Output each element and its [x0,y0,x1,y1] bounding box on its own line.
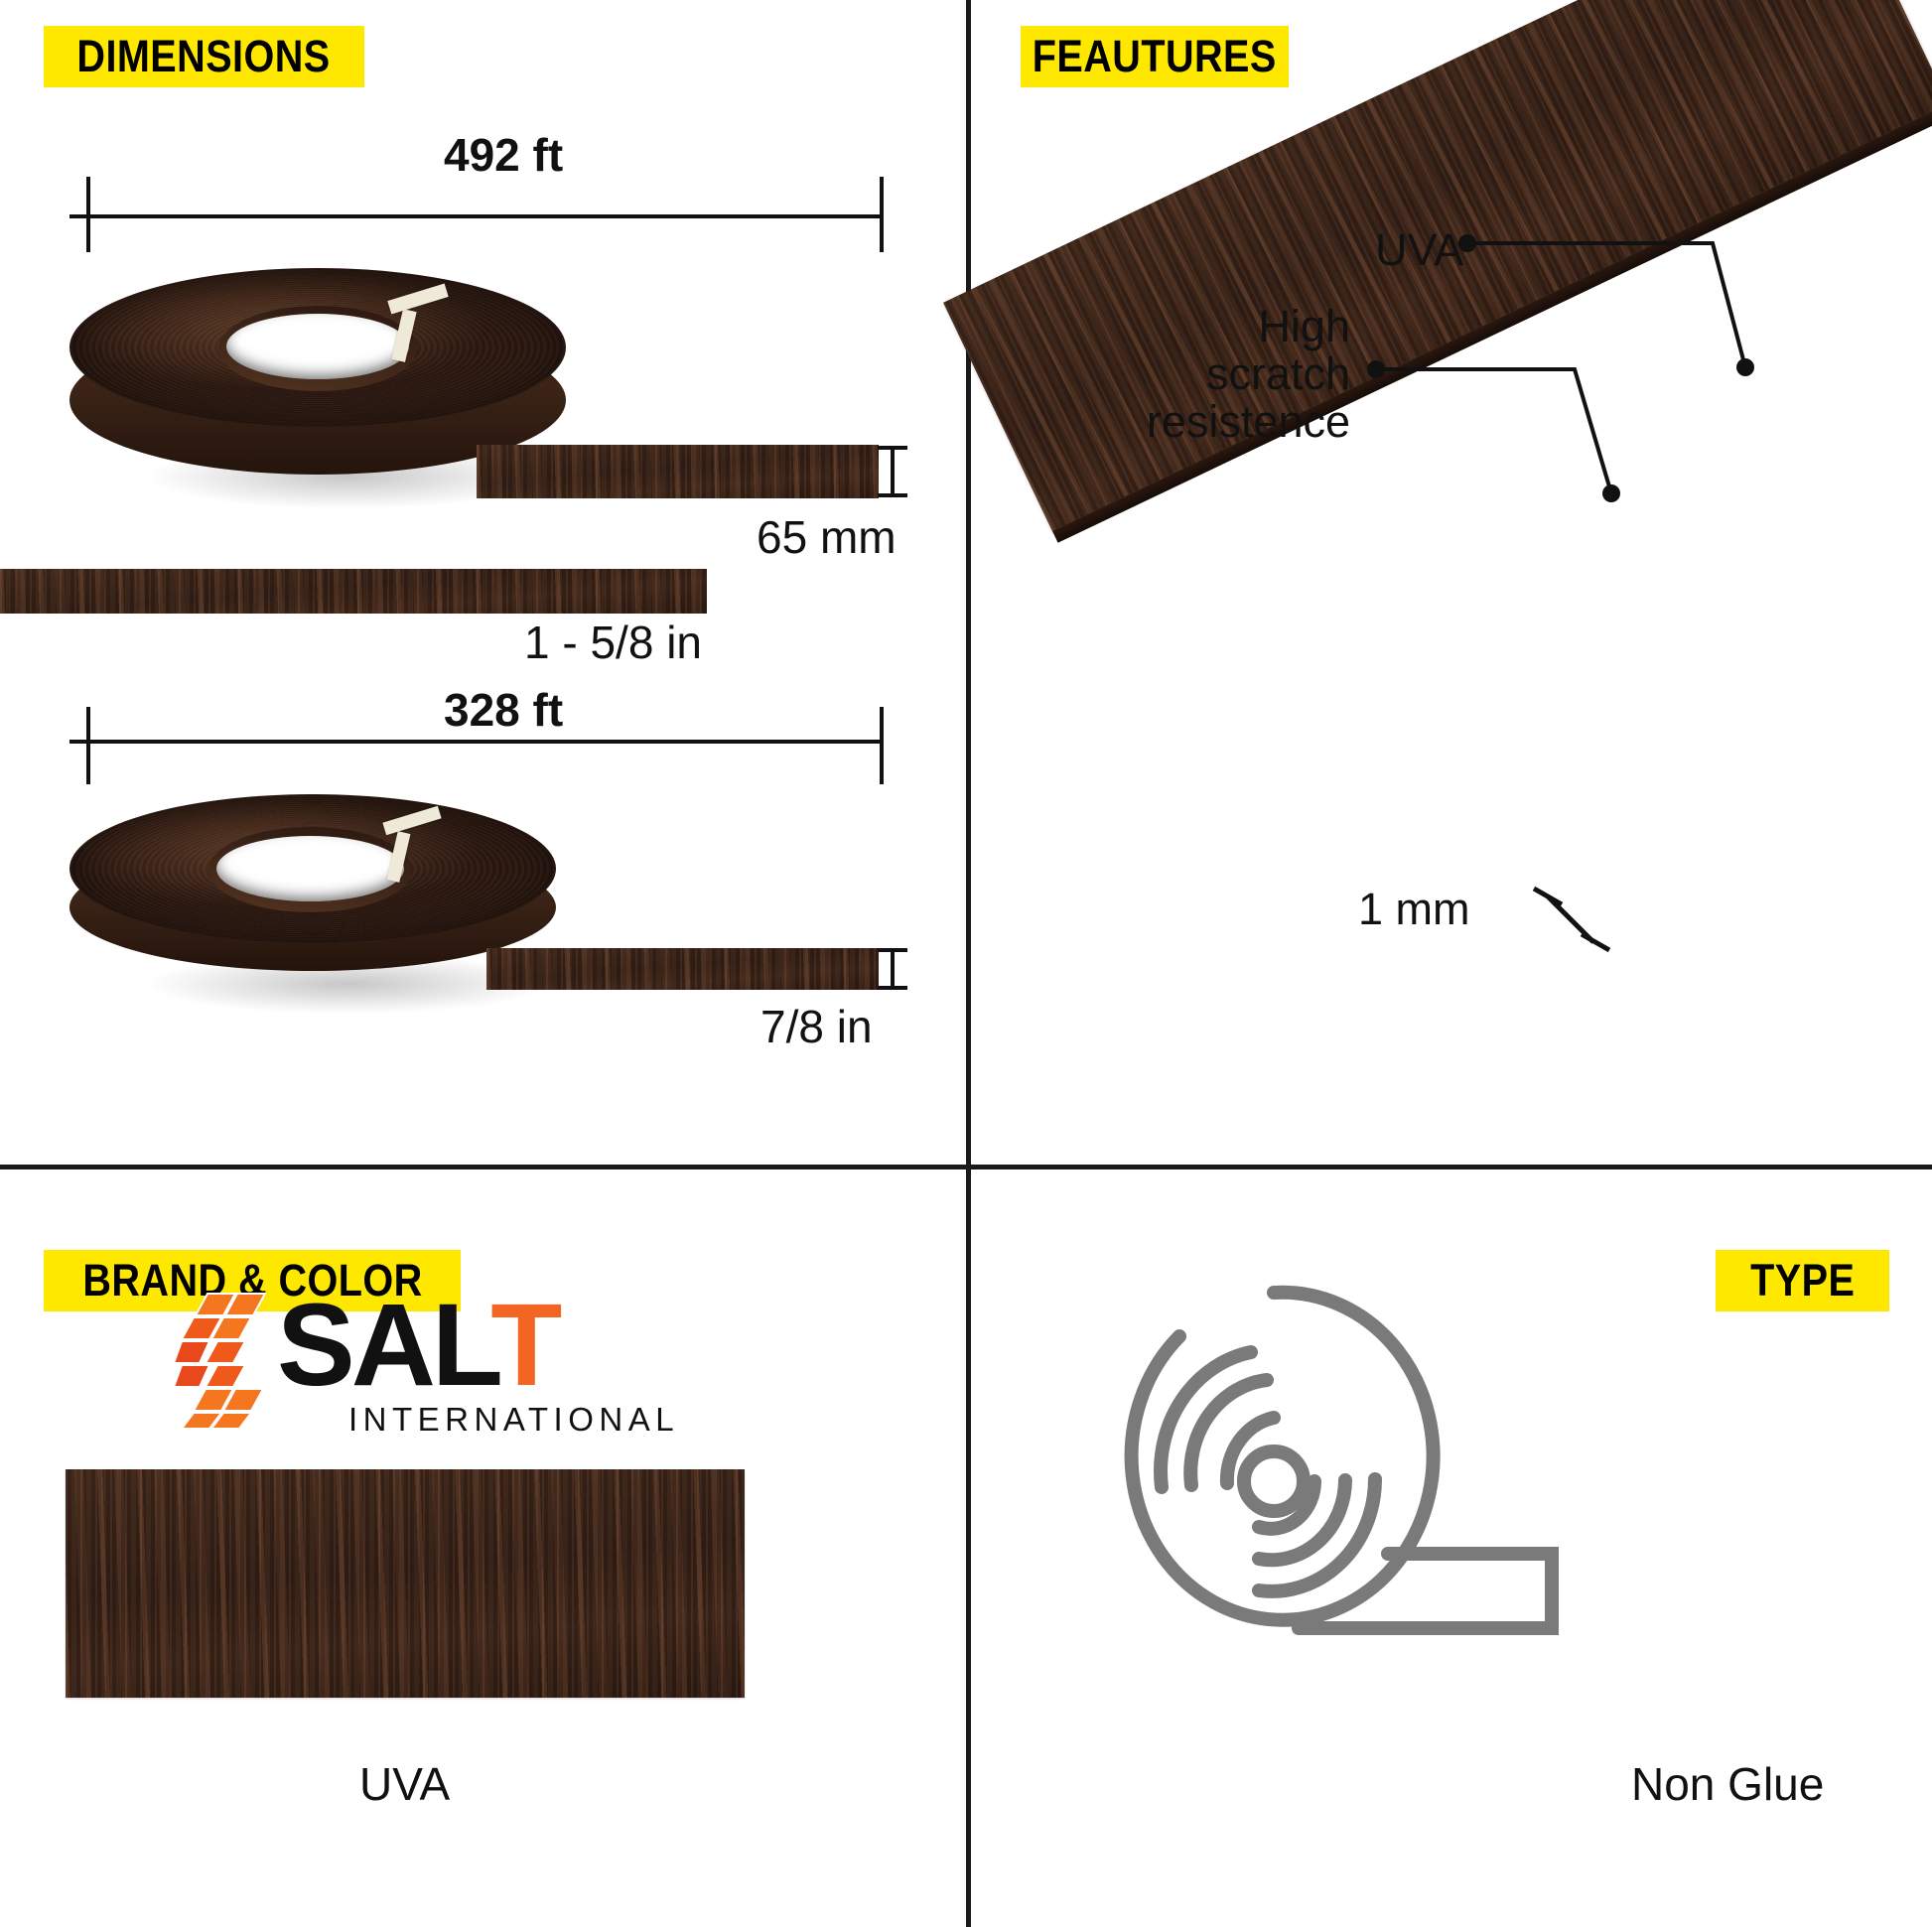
roll-1-width-strip [0,569,707,614]
roll-1-tail-strip [477,445,879,498]
brand-logo-word-black: SAL [277,1280,490,1411]
section-badge-dimensions-label: DIMENSIONS [77,31,331,82]
feature-callout-scratch-line2: scratch [1120,350,1350,399]
feature-callout-uva-label: UVA [1375,224,1463,276]
roll-1-length-rule [69,214,882,218]
horizontal-divider [0,1165,1932,1170]
type-value-label: Non Glue [1631,1757,1824,1811]
section-badge-features-label: FEAUTURES [1033,31,1277,82]
roll-2-length-label: 328 ft [444,683,563,737]
roll-2-tail-strip [486,948,879,990]
feature-callout-scratch-line3: resistence [1090,398,1350,447]
roll-1-thickness-tick-bottom [878,493,907,497]
section-badge-features: FEAUTURES [1021,26,1289,87]
roll-1-thickness-label: 65 mm [757,510,897,564]
roll-2-length-rule [69,740,882,744]
roll-2-thickness-tick-bottom [878,986,907,990]
brand-logo-wordmark: SALT [277,1278,558,1413]
roll-1-width-label: 1 - 5/8 in [524,616,702,669]
section-badge-type: TYPE [1716,1250,1889,1311]
feature-callout-scratch-leader [1368,359,1636,518]
feature-thickness-arrow [1534,869,1653,978]
section-badge-type-label: TYPE [1750,1255,1855,1307]
feature-callout-scratch-line1: High [1191,303,1350,351]
brand-logo: SALT INTERNATIONAL [174,1286,630,1435]
roll-1-core-hole [226,314,409,379]
brand-logo-subtitle: INTERNATIONAL [348,1401,679,1439]
roll-2-length-tick-left [86,707,90,784]
salt-s-mark-icon [174,1290,277,1429]
roll-coil-icon [1100,1271,1567,1658]
roll-2-thickness-label: 7/8 in [760,1000,873,1053]
roll-1-length-tick-right [880,177,884,252]
roll-1-length-label: 492 ft [444,128,563,182]
brand-logo-word-orange: T [490,1280,558,1411]
roll-1-thickness-arrow-line [891,449,895,496]
roll-1-thickness-tick-top [878,446,907,450]
color-name-label: UVA [359,1757,450,1811]
roll-2-thickness-arrow-line [891,951,895,989]
roll-2-core-hole [216,836,404,901]
color-swatch-uva [66,1469,745,1698]
roll-1-length-tick-left [86,177,90,252]
feature-thickness-label: 1 mm [1358,884,1470,935]
roll-2-thickness-tick-top [878,948,907,952]
roll-2-length-tick-right [880,707,884,784]
section-badge-dimensions: DIMENSIONS [44,26,364,87]
